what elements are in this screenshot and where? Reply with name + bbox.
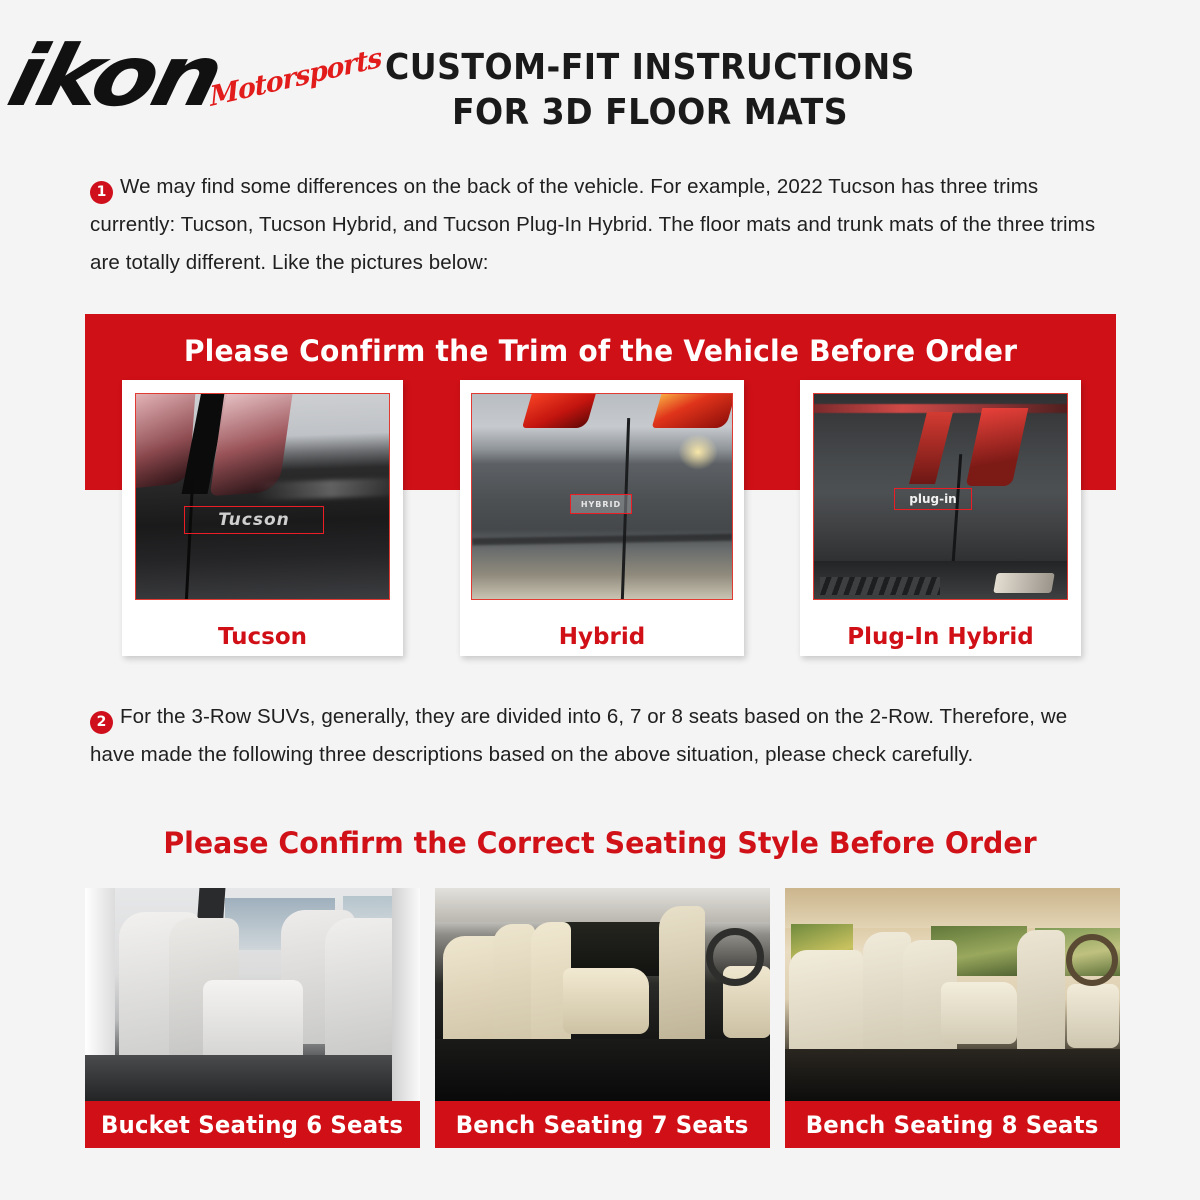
- cabin-floor: [435, 1039, 770, 1101]
- body-reflection-glow: [678, 434, 718, 470]
- seat-shape: [493, 924, 535, 1056]
- seating-label-bench-8: Bench Seating 8 Seats: [806, 1111, 1099, 1139]
- steering-wheel-shape: [706, 928, 764, 986]
- taillight-left-shape: [522, 394, 598, 428]
- seat-shape: [203, 980, 303, 1066]
- seating-label-bar-bench-7: Bench Seating 7 Seats: [435, 1101, 770, 1148]
- seating-photo-bench-7: [435, 888, 770, 1101]
- trim-photo-hybrid: HYBRID: [472, 394, 732, 599]
- cabin-floor: [785, 1049, 1120, 1101]
- door-frame-right: [392, 888, 420, 1101]
- step-2-text: For the 3-Row SUVs, generally, they are …: [90, 705, 1067, 766]
- trim-card-label-tucson: Tucson: [122, 624, 403, 650]
- taillight-right-shape: [652, 394, 732, 428]
- badge-highlight-box-hybrid: HYBRID: [570, 494, 632, 514]
- step-1-paragraph: 1We may find some differences on the bac…: [90, 168, 1102, 282]
- body-panel-seam: [185, 478, 195, 599]
- seating-photo-bucket-6: [85, 888, 420, 1101]
- steering-wheel-shape: [1066, 934, 1118, 986]
- badge-text-plug-in: plug-in: [909, 492, 956, 506]
- step-1-text: We may find some differences on the back…: [90, 175, 1095, 274]
- seat-shape: [1067, 984, 1119, 1048]
- seat-shape: [563, 968, 649, 1034]
- trim-card-label-hybrid: Hybrid: [460, 624, 744, 650]
- seating-label-bench-7: Bench Seating 7 Seats: [456, 1111, 749, 1139]
- seating-card-bucket-6[interactable]: Bucket Seating 6 Seats: [85, 888, 420, 1148]
- rear-reflector-shape: [993, 573, 1055, 593]
- body-crease-line: [472, 534, 732, 546]
- trim-card-label-plug-in-hybrid: Plug-In Hybrid: [800, 624, 1081, 650]
- step-2-number-badge: 2: [90, 711, 113, 734]
- cabin-roof: [785, 888, 1120, 928]
- seat-shape: [941, 982, 1017, 1044]
- seat-shape: [1017, 930, 1065, 1064]
- step-1-number-badge: 1: [90, 181, 113, 204]
- seat-shape: [789, 950, 863, 1060]
- trim-banner-text: Please Confirm the Trim of the Vehicle B…: [100, 334, 1100, 368]
- page-header: ikon Motorsports CUSTOM-FIT INSTRUCTIONS…: [0, 0, 1200, 150]
- trim-card-plug-in-hybrid[interactable]: plug-in Plug-In Hybrid: [800, 380, 1081, 656]
- seating-card-bench-8[interactable]: Bench Seating 8 Seats: [785, 888, 1120, 1148]
- ikon-motorsports-logo: ikon Motorsports: [14, 30, 344, 140]
- bumper-vent-shape: [820, 577, 940, 595]
- page-title: CUSTOM-FIT INSTRUCTIONS FOR 3D FLOOR MAT…: [365, 46, 935, 135]
- seat-shape: [659, 906, 705, 1046]
- logo-wordmark: ikon: [1, 34, 227, 118]
- cabin-floor: [85, 1055, 420, 1101]
- seating-photo-bench-8: [785, 888, 1120, 1101]
- trim-card-tucson[interactable]: Tucson Tucson: [122, 380, 403, 656]
- seating-card-bench-7[interactable]: Bench Seating 7 Seats: [435, 888, 770, 1148]
- badge-text-tucson: Tucson: [218, 510, 290, 530]
- page-title-line1: CUSTOM-FIT INSTRUCTIONS: [365, 46, 935, 91]
- seating-section-heading: Please Confirm the Correct Seating Style…: [12, 826, 1188, 860]
- badge-highlight-box-plug-in: plug-in: [894, 488, 972, 510]
- trim-photo-plug-in-hybrid: plug-in: [814, 394, 1067, 599]
- step-2-paragraph: 2For the 3-Row SUVs, generally, they are…: [90, 698, 1102, 774]
- seating-label-bar-bucket-6: Bucket Seating 6 Seats: [85, 1101, 420, 1148]
- seating-label-bar-bench-8: Bench Seating 8 Seats: [785, 1101, 1120, 1148]
- cabin-roof: [435, 888, 770, 922]
- instruction-page: ikon Motorsports CUSTOM-FIT INSTRUCTIONS…: [0, 0, 1200, 1200]
- badge-highlight-box-tucson: Tucson: [184, 506, 324, 534]
- trim-card-hybrid[interactable]: HYBRID Hybrid: [460, 380, 744, 656]
- taillight-left-shape: [909, 412, 953, 484]
- trim-photo-tucson: Tucson: [136, 394, 389, 599]
- seating-label-bucket-6: Bucket Seating 6 Seats: [101, 1111, 403, 1139]
- logo-script-motorsports: Motorsports: [209, 42, 383, 113]
- taillight-right-shape: [966, 408, 1029, 486]
- page-title-line2: FOR 3D FLOOR MATS: [365, 91, 935, 136]
- badge-text-hybrid: HYBRID: [581, 500, 621, 509]
